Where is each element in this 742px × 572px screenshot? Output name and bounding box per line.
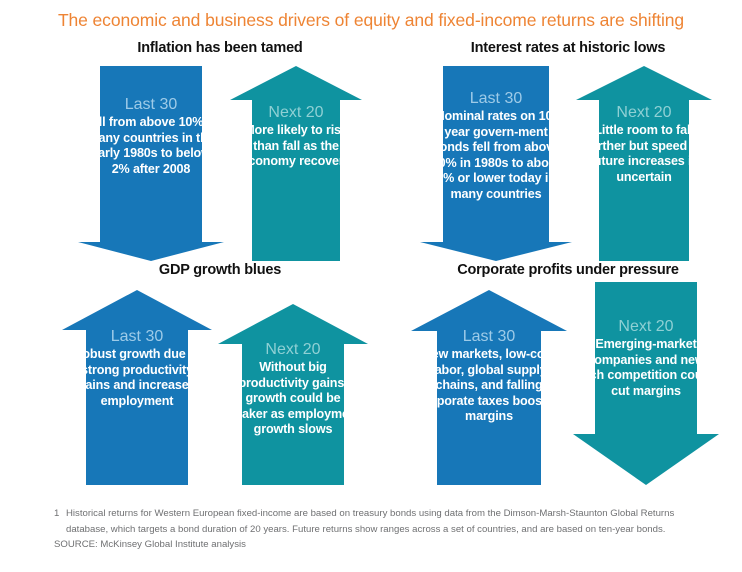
period-label: Last 30 (78, 96, 224, 114)
arrow-body-text: More likely to rise than fall as the eco… (230, 123, 362, 169)
quadrant-inflation: Inflation has been tamed Last 30 Fell fr… (60, 40, 380, 260)
footnote-line-2: database, which targets a bond duration … (54, 522, 714, 538)
period-label: Next 20 (230, 104, 362, 122)
arrow-body-text: Robust growth due to strong productivity… (62, 347, 212, 409)
quadrant-heading: Inflation has been tamed (60, 40, 380, 56)
period-label: Next 20 (573, 318, 719, 336)
arrow-body-text: Fell from above 10% in many countries in… (78, 115, 224, 177)
arrow-body-text: Nominal rates on 10-year govern-ment bon… (420, 109, 572, 202)
period-label: Last 30 (420, 90, 572, 108)
footnote: 1Historical returns for Western European… (54, 506, 714, 553)
arrow-gdp-last30[interactable]: Last 30 Robust growth due to strong prod… (62, 290, 212, 485)
quadrant-heading: Corporate profits under pressure (408, 262, 728, 278)
arrow-profits-next20[interactable]: Next 20 Emerging-market companies and ne… (573, 282, 719, 485)
quadrant-interest-rates: Interest rates at historic lows Last 30 … (408, 40, 728, 260)
quadrant-heading: Interest rates at historic lows (408, 40, 728, 56)
arrow-body-text: Little room to fall further but speed of… (576, 123, 712, 185)
arrow-inflation-next20[interactable]: Next 20 More likely to rise than fall as… (230, 66, 362, 261)
arrow-body-text: Emerging-market companies and new tech c… (573, 337, 719, 399)
period-label: Next 20 (576, 104, 712, 122)
arrow-profits-last30[interactable]: Last 30 New markets, low-cost labor, glo… (411, 290, 567, 485)
arrow-interest-next20[interactable]: Next 20 Little room to fall further but … (576, 66, 712, 261)
quadrant-heading: GDP growth blues (60, 262, 380, 278)
footnote-marker: 1 (54, 506, 66, 522)
period-label: Last 30 (411, 328, 567, 346)
arrow-body-text: New markets, low-cost labor, global supp… (411, 347, 567, 424)
arrow-interest-last30[interactable]: Last 30 Nominal rates on 10-year govern-… (420, 66, 572, 261)
quadrant-gdp-growth: GDP growth blues Last 30 Robust growth d… (60, 262, 380, 487)
footnote-text-1: Historical returns for Western European … (66, 508, 674, 519)
footnote-source: SOURCE: McKinsey Global Institute analys… (54, 537, 714, 553)
arrow-inflation-last30[interactable]: Last 30 Fell from above 10% in many coun… (78, 66, 224, 261)
arrow-gdp-next20[interactable]: Next 20 Without big productivity gains, … (218, 304, 368, 485)
page-title: The economic and business drivers of equ… (0, 10, 742, 31)
period-label: Next 20 (218, 341, 368, 359)
footnote-line-1: 1Historical returns for Western European… (54, 506, 714, 522)
arrow-body-text: Without big productivity gains, growth c… (218, 360, 368, 437)
period-label: Last 30 (62, 328, 212, 346)
quadrant-corporate-profits: Corporate profits under pressure Last 30… (408, 262, 728, 487)
